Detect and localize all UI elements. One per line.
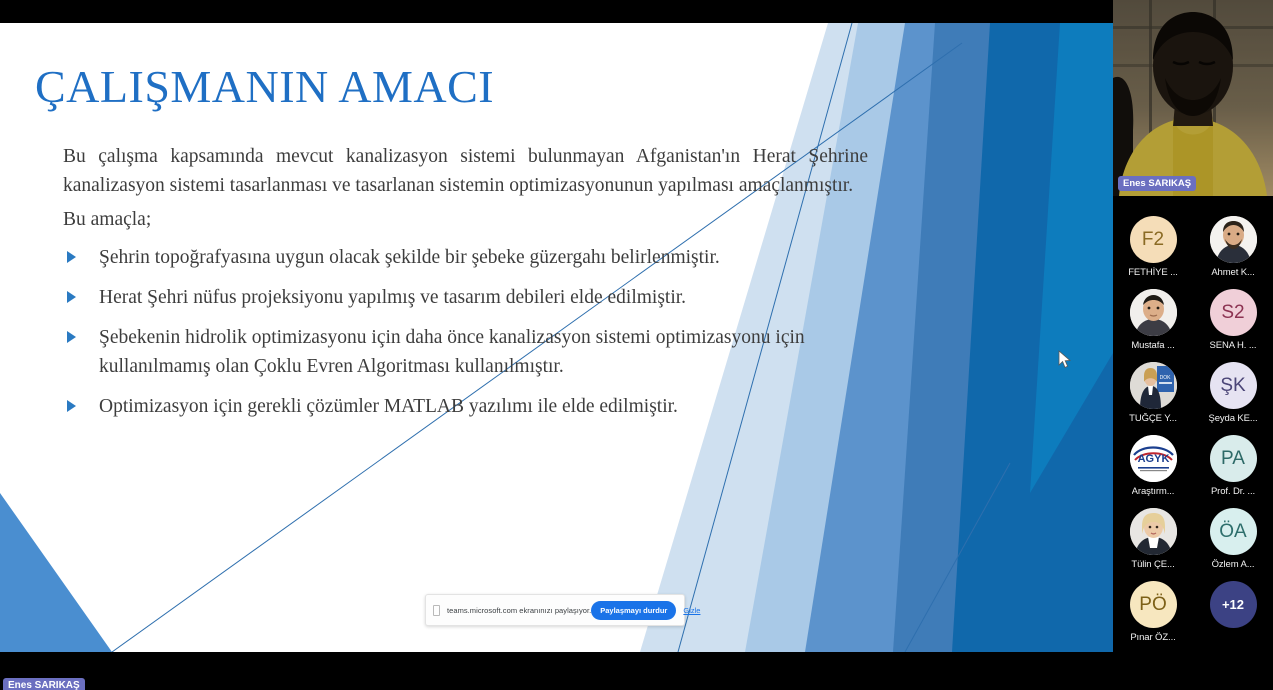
list-item: Herat Şehri nüfus projeksiyonu yapılmış … (63, 283, 868, 312)
avatar (1210, 216, 1257, 263)
participant-tile[interactable]: Ahmet K... (1193, 216, 1273, 286)
avatar: ÖA (1210, 508, 1257, 555)
participant-tile[interactable]: Tülin ÇE... (1113, 508, 1193, 578)
slide-paragraph-1: Bu çalışma kapsamında mevcut kanalizasyo… (63, 143, 868, 200)
teams-screen-share-view: ÇALIŞMANIN AMACI Bu çalışma kapsamında m… (0, 0, 1273, 690)
participant-overflow-tile[interactable]: +12 (1193, 581, 1273, 651)
avatar: AGYK (1130, 435, 1177, 482)
participant-tile[interactable]: ŞK Şeyda KE... (1193, 362, 1273, 432)
bullet-text: Şehrin topoğrafyasına uygun olacak şekil… (99, 247, 720, 268)
participant-name: Pınar ÖZ... (1130, 632, 1175, 643)
bullet-text: Şebekenin hidrolik optimizasyonu için da… (99, 327, 805, 377)
slide-title: ÇALIŞMANIN AMACI (35, 63, 494, 111)
participant-name: Prof. Dr. ... (1211, 486, 1255, 497)
active-speaker-video-tile[interactable]: Enes SARIKAŞ (1113, 0, 1273, 196)
participant-grid: F2 FETHİYE ... Ahmet K... (1113, 196, 1273, 651)
participant-name: FETHİYE ... (1128, 267, 1178, 278)
slide-paragraph-2: Bu amaçla; (63, 206, 868, 235)
participant-tile[interactable]: AGYK Araştırm... (1113, 435, 1193, 505)
participant-tile[interactable]: Mustafa ... (1113, 289, 1193, 359)
mouse-pointer-icon (1058, 350, 1072, 370)
participant-tile[interactable]: ÖA Özlem A... (1193, 508, 1273, 578)
stage-speaker-badge: Enes SARIKAŞ (3, 678, 85, 690)
participant-name: Mustafa ... (1131, 340, 1174, 351)
active-speaker-name: Enes SARIKAŞ (1118, 176, 1196, 191)
participant-name: Tülin ÇE... (1131, 559, 1174, 570)
avatar: S2 (1210, 289, 1257, 336)
list-item: Şebekenin hidrolik optimizasyonu için da… (63, 323, 868, 381)
participant-tile[interactable]: PÖ Pınar ÖZ... (1113, 581, 1193, 651)
participant-tile[interactable]: S2 SENA H. ... (1193, 289, 1273, 359)
triangle-bullet-icon (67, 291, 76, 303)
participant-tile[interactable]: F2 FETHİYE ... (1113, 216, 1193, 286)
triangle-bullet-icon (67, 331, 76, 343)
triangle-bullet-icon (67, 400, 76, 412)
participant-name: TUĞÇE Y... (1129, 413, 1177, 424)
browser-tab-icon (433, 605, 440, 616)
participant-name: Araştırm... (1132, 486, 1175, 497)
avatar (1130, 508, 1177, 555)
participant-tile[interactable]: DOK TUĞÇE Y... (1113, 362, 1193, 432)
list-item: Şehrin topoğrafyasına uygun olacak şekil… (63, 243, 868, 272)
participant-tile[interactable]: PA Prof. Dr. ... (1193, 435, 1273, 505)
webcam-feed (1113, 0, 1273, 196)
presentation-slide: ÇALIŞMANIN AMACI Bu çalışma kapsamında m… (0, 23, 1113, 652)
overflow-count-badge: +12 (1210, 581, 1257, 628)
stop-sharing-button[interactable]: Paylaşmayı durdur (591, 601, 676, 620)
bullet-text: Herat Şehri nüfus projeksiyonu yapılmış … (99, 287, 686, 308)
slide-bullet-list: Şehrin topoğrafyasına uygun olacak şekil… (63, 243, 868, 421)
avatar: ŞK (1210, 362, 1257, 409)
shared-content-stage: ÇALIŞMANIN AMACI Bu çalışma kapsamında m… (0, 0, 1113, 690)
participant-name: Şeyda KE... (1208, 413, 1257, 424)
svg-text:DOK: DOK (1159, 375, 1171, 381)
bullet-text: Optimizasyon için gerekli çözümler MATLA… (99, 396, 678, 417)
list-item: Optimizasyon için gerekli çözümler MATLA… (63, 392, 868, 421)
participant-rail: Enes SARIKAŞ F2 FETHİYE ... (1113, 0, 1273, 690)
avatar: DOK (1130, 362, 1177, 409)
screen-share-notification-bar: teams.microsoft.com ekranınızı paylaşıyo… (425, 594, 685, 626)
share-message: teams.microsoft.com ekranınızı paylaşıyo… (447, 606, 591, 615)
slide-body: Bu çalışma kapsamında mevcut kanalizasyo… (63, 143, 868, 432)
svg-text:AGYK: AGYK (1137, 453, 1169, 465)
hide-notification-link[interactable]: Gizle (683, 606, 700, 615)
participant-name: SENA H. ... (1210, 340, 1257, 351)
participant-name: Özlem A... (1212, 559, 1255, 570)
avatar: PÖ (1130, 581, 1177, 628)
avatar: F2 (1130, 216, 1177, 263)
triangle-bullet-icon (67, 251, 76, 263)
participant-name: Ahmet K... (1211, 267, 1254, 278)
avatar (1130, 289, 1177, 336)
avatar: PA (1210, 435, 1257, 482)
